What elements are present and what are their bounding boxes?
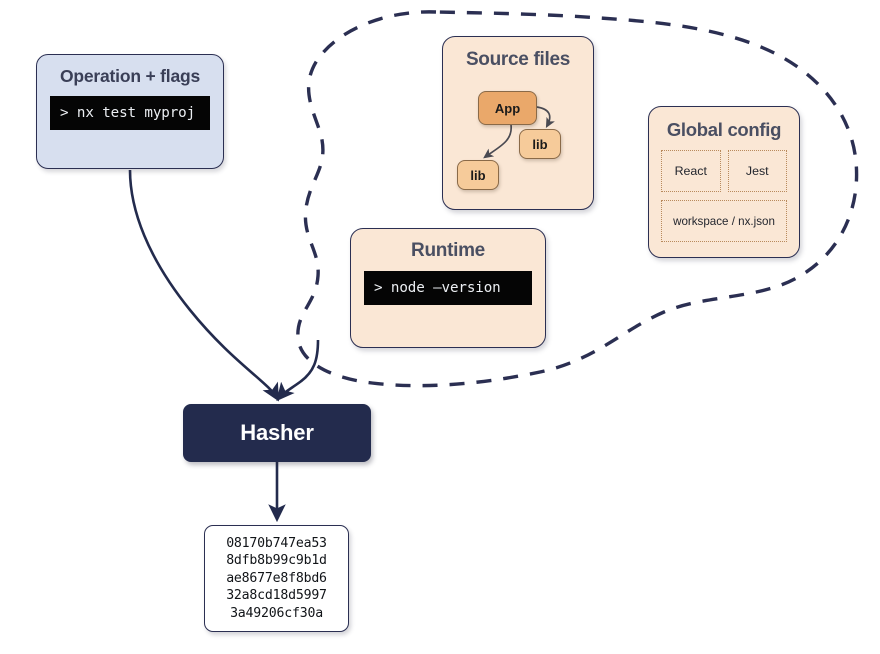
operation-flags-title: Operation + flags (50, 66, 210, 87)
global-config-card: Global config React Jest workspace / nx.… (648, 106, 800, 258)
source-files-card: Source files App lib lib (442, 36, 594, 210)
hash-line: 08170b747ea53 (226, 535, 327, 553)
graph-node-lib-2[interactable]: lib (519, 129, 561, 159)
runtime-title: Runtime (364, 240, 532, 262)
global-config-row: React Jest (661, 150, 787, 192)
global-config-title: Global config (661, 119, 787, 141)
hash-line: 32a8cd18d5997 (226, 587, 327, 605)
runtime-card: Runtime > node –version (350, 228, 546, 348)
operation-flags-card: Operation + flags > nx test myproj (36, 54, 224, 169)
hash-line: 8dfb8b99c9b1d (226, 552, 327, 570)
graph-node-lib-1[interactable]: lib (457, 160, 499, 190)
config-cell-react: React (661, 150, 721, 192)
diagram-canvas: Operation + flags > nx test myproj Sourc… (0, 0, 880, 654)
runtime-terminal: > node –version (364, 271, 532, 305)
config-cell-jest: Jest (728, 150, 788, 192)
operation-terminal: > nx test myproj (50, 96, 210, 130)
hash-line: 3a49206cf30a (230, 605, 323, 623)
graph-node-app[interactable]: App (478, 91, 537, 125)
hasher-node: Hasher (183, 404, 371, 462)
project-graph: App lib lib (443, 71, 593, 201)
config-cell-workspace: workspace / nx.json (661, 200, 787, 242)
hash-line: ae8677e8f8bd6 (226, 570, 327, 588)
hash-output-card: 08170b747ea53 8dfb8b99c9b1d ae8677e8f8bd… (204, 525, 349, 632)
source-files-title: Source files (443, 49, 593, 71)
